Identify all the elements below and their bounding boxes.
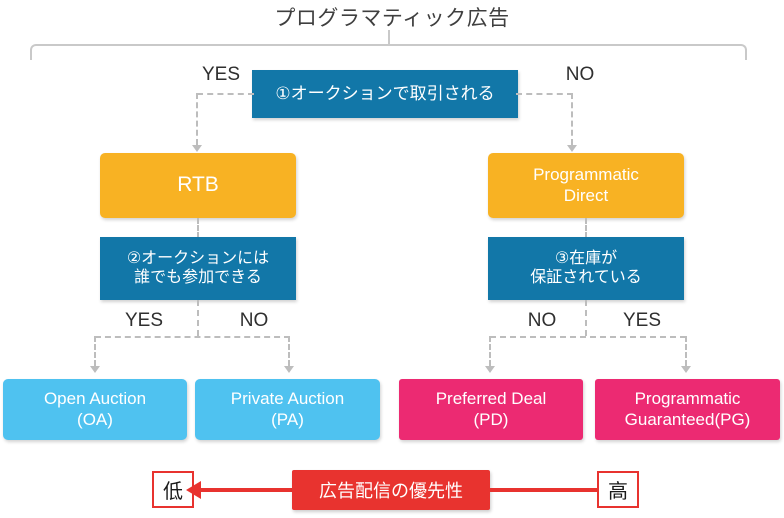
connector-q3-left-drop (489, 336, 491, 366)
priority-line-right (490, 488, 598, 492)
question-3-line-1: ③在庫が (530, 250, 642, 269)
question-3-line-2: 保証されている (530, 269, 642, 288)
connector-q1-no-horizontal (516, 93, 573, 95)
branch-label-q2-yes: YES (94, 310, 194, 332)
connector-q3-right-drop (685, 336, 687, 366)
connector-q1-yes-vertical (196, 93, 198, 145)
programmatic-direct-box: Programmatic Direct (488, 153, 684, 218)
priority-line-left (200, 488, 292, 492)
connector-q3-split-horizontal (490, 336, 686, 338)
diagram-canvas: プログラマティック広告 ①オークションで取引される YES NO RTB Pro… (0, 0, 784, 518)
private-auction-line-2: (PA) (231, 410, 344, 430)
connector-rtb-to-question-2 (197, 218, 199, 238)
scope-bracket (30, 44, 747, 60)
connector-q3-stem (585, 300, 587, 336)
priority-arrowhead-icon (186, 481, 201, 499)
connector-q2-right-drop (288, 336, 290, 366)
private-auction-box: Private Auction (PA) (195, 379, 380, 440)
programmatic-guaranteed-box: Programmatic Guaranteed(PG) (595, 379, 780, 440)
preferred-deal-line-2: (PD) (436, 410, 547, 430)
connector-q1-no-vertical (571, 93, 573, 145)
programmatic-guaranteed-line-1: Programmatic (625, 389, 751, 409)
arrowhead-to-programmatic-direct (567, 145, 577, 152)
programmatic-direct-line-2: Direct (533, 186, 639, 206)
arrowhead-to-rtb (192, 145, 202, 152)
open-auction-box: Open Auction (OA) (3, 379, 187, 440)
question-2-box: ②オークションには 誰でも参加できる (100, 237, 296, 300)
programmatic-guaranteed-line-2: Guaranteed(PG) (625, 410, 751, 430)
arrowhead-to-preferred-deal (485, 366, 495, 373)
connector-q1-yes-horizontal (197, 93, 254, 95)
rtb-box: RTB (100, 153, 296, 218)
connector-q2-split-horizontal (95, 336, 290, 338)
private-auction-line-1: Private Auction (231, 389, 344, 409)
question-3-box: ③在庫が 保証されている (488, 237, 684, 300)
programmatic-direct-line-1: Programmatic (533, 165, 639, 185)
question-2-line-2: 誰でも参加できる (127, 269, 269, 288)
open-auction-line-2: (OA) (44, 410, 146, 430)
preferred-deal-box: Preferred Deal (PD) (399, 379, 583, 440)
branch-label-q1-yes: YES (161, 64, 281, 86)
priority-high-tag: 高 (597, 471, 639, 508)
bracket-stem (388, 30, 390, 45)
connector-pd-to-question-3 (585, 218, 587, 238)
page-title: プログラマティック広告 (0, 2, 784, 32)
branch-label-q3-no: NO (492, 310, 592, 332)
branch-label-q3-yes: YES (592, 310, 692, 332)
branch-label-q1-no: NO (520, 64, 640, 86)
arrowhead-to-programmatic-guaranteed (681, 366, 691, 373)
arrowhead-to-private-auction (284, 366, 294, 373)
connector-q2-left-drop (94, 336, 96, 366)
connector-q2-stem (197, 300, 199, 336)
preferred-deal-line-1: Preferred Deal (436, 389, 547, 409)
question-1-box: ①オークションで取引される (252, 70, 518, 118)
arrowhead-to-open-auction (90, 366, 100, 373)
priority-bar: 広告配信の優先性 (292, 470, 490, 510)
question-2-line-1: ②オークションには (127, 250, 269, 269)
branch-label-q2-no: NO (204, 310, 304, 332)
open-auction-line-1: Open Auction (44, 389, 146, 409)
